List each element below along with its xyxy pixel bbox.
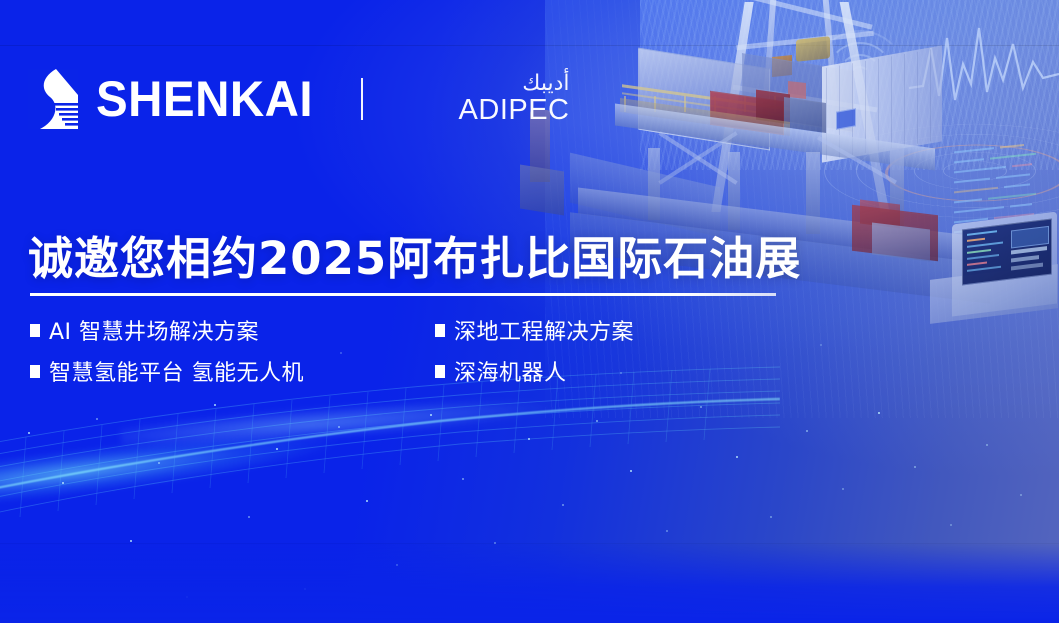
brand-lockup: SHENKAI [26,66,570,132]
feature-list: AI 智慧井场解决方案 深地工程解决方案 智慧氢能平台 氢能无人机 [30,314,730,396]
shenkai-wordmark: SHENKAI [96,74,313,124]
feature-label: 智慧氢能平台 氢能无人机 [49,355,304,387]
shenkai-logo-mark [26,69,80,129]
adipec-promo-banner: SHENKAI [0,0,1059,623]
adipec-lockup: أديبك ADIPEC [391,70,570,128]
feature-label: 深海机器人 [454,355,567,387]
title-divider [30,293,776,296]
feature-item: 深海机器人 [435,355,567,387]
feature-label: AI 智慧井场解决方案 [49,314,259,346]
square-bullet-icon [30,324,40,337]
feature-row: 智慧氢能平台 氢能无人机 深海机器人 [30,355,730,387]
feature-item: 智慧氢能平台 氢能无人机 [30,355,435,387]
square-bullet-icon [435,365,445,378]
adipec-radial-burst-icon [391,70,449,128]
adipec-name-block: أديبك ADIPEC [459,73,570,125]
adipec-arabic-name: أديبك [459,73,570,95]
brand-separator [361,78,363,120]
page-title: 诚邀您相约2025阿布扎比国际石油展 [28,222,801,287]
feature-item: 深地工程解决方案 [435,314,634,346]
feature-label: 深地工程解决方案 [454,314,634,346]
square-bullet-icon [30,365,40,378]
banner-content: SHENKAI [0,0,1059,623]
adipec-latin-name: ADIPEC [459,96,570,125]
square-bullet-icon [435,324,445,337]
feature-row: AI 智慧井场解决方案 深地工程解决方案 [30,314,730,346]
feature-item: AI 智慧井场解决方案 [30,314,435,346]
